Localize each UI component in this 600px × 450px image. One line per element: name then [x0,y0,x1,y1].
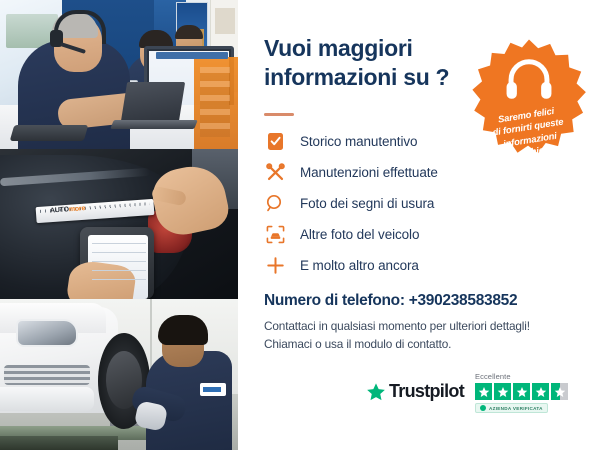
trustpilot-logo: Trustpilot [366,381,464,402]
feature-item: E molto altro ancora [264,252,564,278]
trustpilot-rating-label: Eccellente [475,372,511,381]
headset-icon [468,55,590,104]
feature-label: Foto dei segni di usura [300,196,434,211]
trustpilot-verified-text: AZIENDA VERIFICATA [489,406,543,411]
magnifier-icon [264,192,286,214]
feature-item: Manutenzioni effettuate [264,159,564,185]
contact-description-line2: Chiamaci o usa il modulo di contatto. [264,337,451,351]
trustpilot-star-half [551,383,568,400]
page-title-line1: Vuoi maggiori [264,35,413,61]
feature-item: Foto dei segni di usura [264,190,564,216]
trustpilot-star [475,383,492,400]
vehicle-inspection-tablet-photo: AUTOmore [0,149,238,299]
trustpilot-star-icon [366,382,386,402]
feature-item: Altre foto del veicolo [264,221,564,247]
plus-icon [264,254,286,276]
phone-number-label[interactable]: Numero di telefono: +390238583852 [264,292,517,310]
promo-card: AUTOmore [0,0,600,450]
checklist-document-icon [264,130,286,152]
feature-label: Manutenzioni effettuate [300,165,438,180]
page-title-line2: informazioni su ? [264,64,449,90]
page-title: Vuoi maggiori informazioni su ? [264,34,484,92]
contact-description-line1: Contattaci in qualsiasi momento per ulte… [264,319,530,333]
content-panel: Vuoi maggiori informazioni su ? Saremo f… [238,0,600,450]
trustpilot-star [532,383,549,400]
feature-item: Storico manutentivo [264,128,564,154]
verified-check-icon [480,405,486,411]
trustpilot-wordmark: Trustpilot [389,381,464,402]
car-frame-icon [264,223,286,245]
feature-label: E molto altro ancora [300,258,419,273]
contact-description: Contattaci in qualsiasi momento per ulte… [264,318,564,353]
trustpilot-star [513,383,530,400]
feature-label: Altre foto del veicolo [300,227,419,242]
tools-cross-icon [264,161,286,183]
feature-label: Storico manutentivo [300,134,417,149]
trustpilot-verified-badge: AZIENDA VERIFICATA [475,403,548,413]
trustpilot-widget[interactable]: Trustpilot Eccellente [366,372,568,413]
trustpilot-star [494,383,511,400]
call-center-agents-photo [0,0,238,149]
photo-column: AUTOmore [0,0,238,450]
title-divider [264,113,294,116]
trustpilot-rating: Eccellente [475,372,568,413]
mechanic-tire-check-photo [0,299,238,450]
feature-list: Storico manutentivo Manutenzioni effettu… [264,128,564,283]
trustpilot-stars [475,383,568,400]
